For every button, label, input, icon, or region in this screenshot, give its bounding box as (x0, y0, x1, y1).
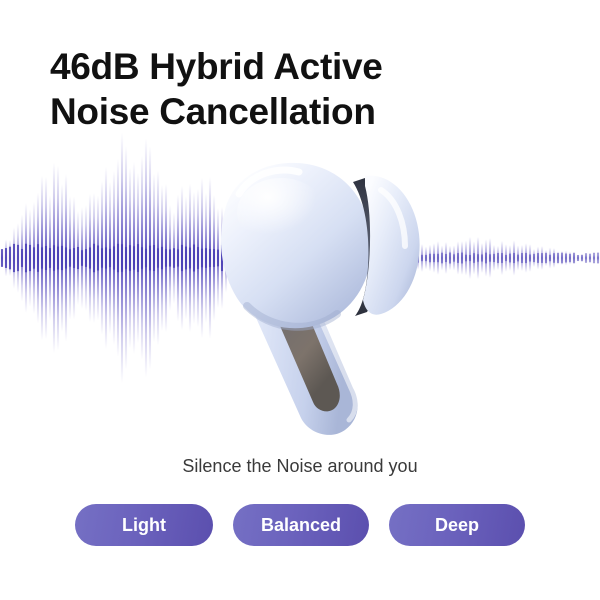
earbud-housing (221, 163, 372, 328)
mode-button-balanced[interactable]: Balanced (233, 504, 369, 546)
tagline: Silence the Noise around you (0, 456, 600, 477)
anc-mode-selector: Light Balanced Deep (0, 503, 600, 547)
ear-tip (363, 176, 420, 315)
earbud-image (185, 150, 435, 440)
mode-button-light[interactable]: Light (75, 504, 213, 546)
promo-image-canvas: 46dB Hybrid Active Noise Cancellation (0, 0, 600, 600)
mode-button-deep[interactable]: Deep (389, 504, 525, 546)
